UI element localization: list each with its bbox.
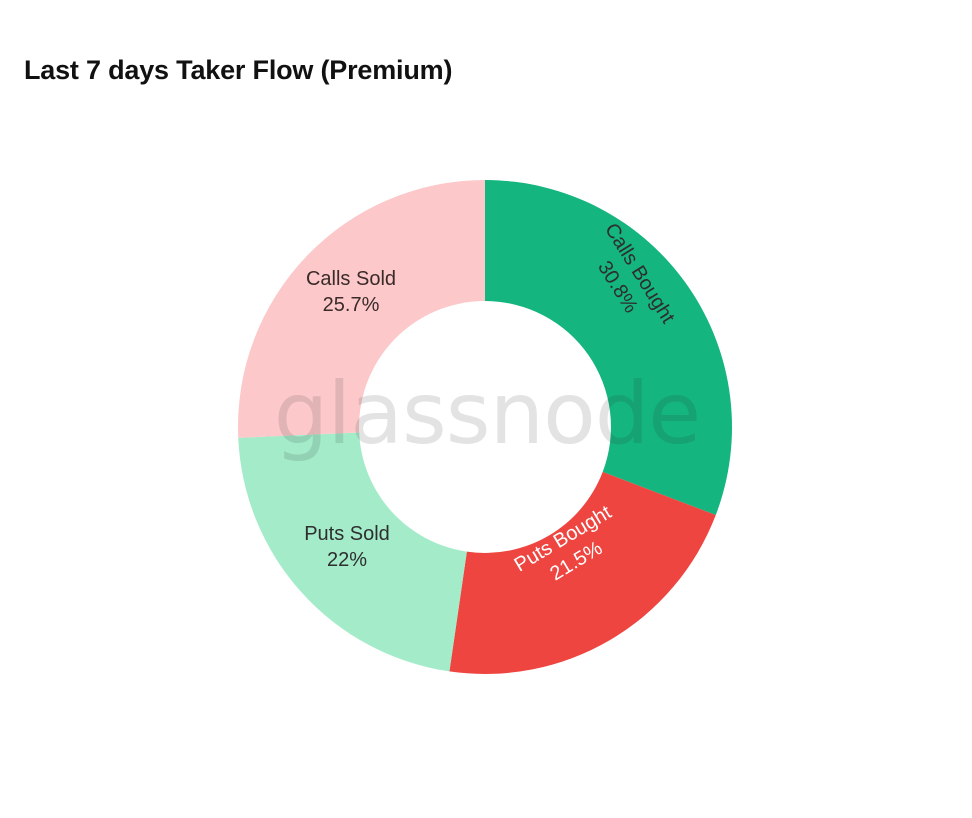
donut-slice-group [238,180,732,674]
donut-chart [238,180,732,674]
donut-slice-puts-sold[interactable] [238,433,467,672]
donut-slice-calls-bought[interactable] [485,180,732,515]
donut-chart-svg [238,180,732,674]
chart-card: Last 7 days Taker Flow (Premium) glassno… [0,0,972,818]
page-title: Last 7 days Taker Flow (Premium) [24,55,452,86]
donut-slice-puts-bought[interactable] [449,472,715,674]
donut-slice-calls-sold[interactable] [238,180,485,438]
